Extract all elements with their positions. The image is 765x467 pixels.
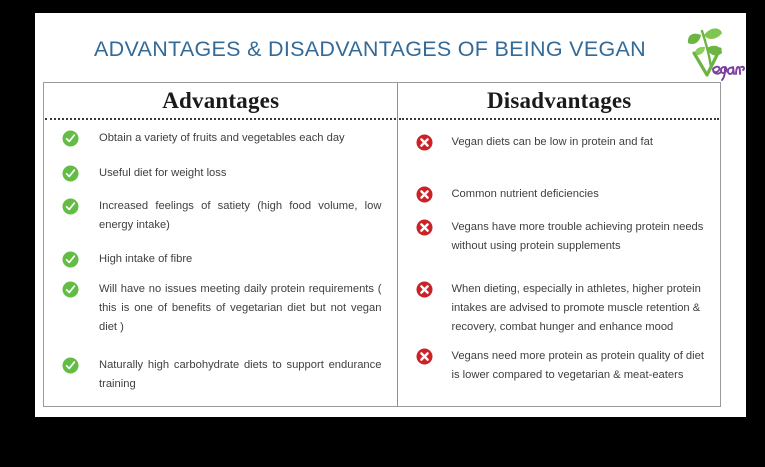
x-circle-icon — [416, 186, 433, 203]
check-circle-icon — [62, 198, 79, 215]
x-circle-icon — [416, 219, 433, 236]
list-item-text: When dieting, especially in athletes, hi… — [451, 280, 706, 337]
page-title: ADVANTAGES & DISADVANTAGES OF BEING VEGA… — [55, 37, 685, 62]
content-card: ADVANTAGES & DISADVANTAGES OF BEING VEGA… — [35, 13, 746, 417]
list-item: Will have no issues meeting daily protei… — [44, 280, 397, 337]
list-item-text: Vegans need more protein as protein qual… — [451, 347, 706, 385]
list-item: Common nutrient deficiencies — [398, 185, 720, 204]
list-item-text: Increased feelings of satiety (high food… — [99, 197, 381, 235]
infographic-root: ADVANTAGES & DISADVANTAGES OF BEING VEGA… — [0, 0, 765, 467]
list-item-text: Vegans have more trouble achieving prote… — [451, 218, 706, 256]
advantages-list: Obtain a variety of fruits and vegetable… — [44, 120, 397, 394]
list-item-text: Will have no issues meeting daily protei… — [99, 280, 381, 337]
x-circle-icon — [416, 281, 433, 298]
column-header-advantages: Advantages — [44, 83, 397, 118]
check-circle-icon — [62, 130, 79, 147]
list-item-text: High intake of fibre — [99, 250, 381, 269]
list-item: When dieting, especially in athletes, hi… — [398, 280, 720, 337]
list-item: Vegans need more protein as protein qual… — [398, 347, 720, 385]
column-header-disadvantages: Disadvantages — [398, 83, 720, 118]
x-circle-icon — [416, 134, 433, 151]
title-row: ADVANTAGES & DISADVANTAGES OF BEING VEGA… — [35, 27, 746, 79]
list-item: High intake of fibre — [44, 250, 397, 269]
check-circle-icon — [62, 251, 79, 268]
list-item: Naturally high carbohydrate diets to sup… — [44, 356, 397, 394]
disadvantages-list: Vegan diets can be low in protein and fa… — [398, 120, 720, 385]
check-circle-icon — [62, 357, 79, 374]
list-item: Useful diet for weight loss — [44, 164, 397, 183]
list-item-text: Naturally high carbohydrate diets to sup… — [99, 356, 381, 394]
column-advantages: Advantages Obtain a variety of fruits an… — [44, 83, 398, 406]
check-circle-icon — [62, 165, 79, 182]
check-circle-icon — [62, 281, 79, 298]
list-item: Vegans have more trouble achieving prote… — [398, 218, 720, 256]
list-item-text: Useful diet for weight loss — [99, 164, 381, 183]
list-item-text: Vegan diets can be low in protein and fa… — [451, 133, 706, 152]
list-item: Vegan diets can be low in protein and fa… — [398, 133, 720, 152]
vegan-logo — [680, 23, 746, 81]
list-item: Increased feelings of satiety (high food… — [44, 197, 397, 235]
comparison-table: Advantages Obtain a variety of fruits an… — [43, 82, 721, 407]
column-disadvantages: Disadvantages Vegan diets can be low in … — [398, 83, 720, 406]
list-item: Obtain a variety of fruits and vegetable… — [44, 129, 397, 148]
list-item-text: Common nutrient deficiencies — [451, 185, 706, 204]
list-item-text: Obtain a variety of fruits and vegetable… — [99, 129, 381, 148]
x-circle-icon — [416, 348, 433, 365]
